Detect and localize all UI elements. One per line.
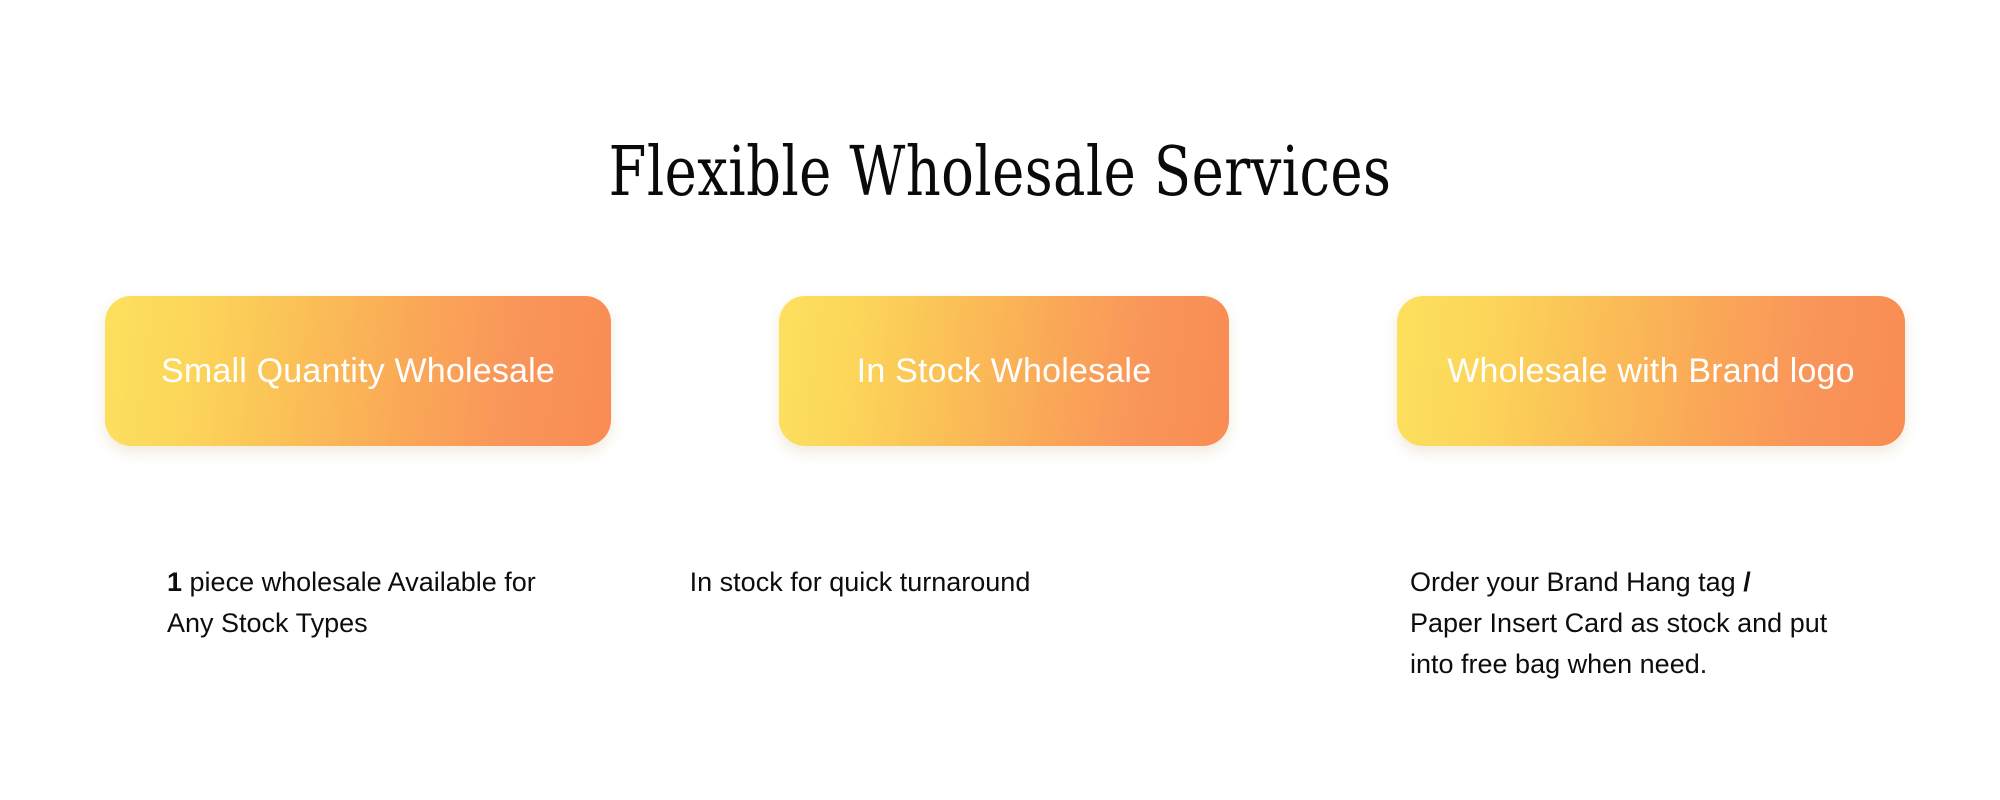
service-card-wholesale-with-brand-logo[interactable]: Wholesale with Brand logo (1397, 296, 1905, 446)
service-caption-in-stock-wholesale: In stock for quick turnaround (645, 562, 1075, 603)
service-captions-row: 1 piece wholesale Available for Any Stoc… (105, 535, 1905, 675)
caption-text-part-a: Order your Brand Hang tag (1410, 567, 1743, 597)
service-card-label: Wholesale with Brand logo (1447, 351, 1855, 391)
caption-text-part-b: Paper Insert Card as stock and put into … (1410, 608, 1827, 679)
caption-separator: / (1743, 567, 1751, 597)
service-card-label: Small Quantity Wholesale (161, 351, 555, 391)
caption-lead-number: 1 (167, 567, 182, 597)
service-card-in-stock-wholesale[interactable]: In Stock Wholesale (779, 296, 1229, 446)
wholesale-services-section: Flexible Wholesale Services Small Quanti… (0, 0, 2000, 800)
caption-text: piece wholesale Available for Any Stock … (167, 567, 536, 638)
service-cards-row: Small Quantity Wholesale In Stock Wholes… (105, 296, 1905, 446)
service-card-small-quantity-wholesale[interactable]: Small Quantity Wholesale (105, 296, 611, 446)
service-card-label: In Stock Wholesale (857, 351, 1152, 391)
caption-text: In stock for quick turnaround (690, 567, 1031, 597)
service-caption-wholesale-with-brand-logo: Order your Brand Hang tag / Paper Insert… (1410, 562, 1830, 685)
service-caption-small-quantity-wholesale: 1 piece wholesale Available for Any Stoc… (167, 562, 587, 644)
page-title: Flexible Wholesale Services (200, 134, 1800, 212)
